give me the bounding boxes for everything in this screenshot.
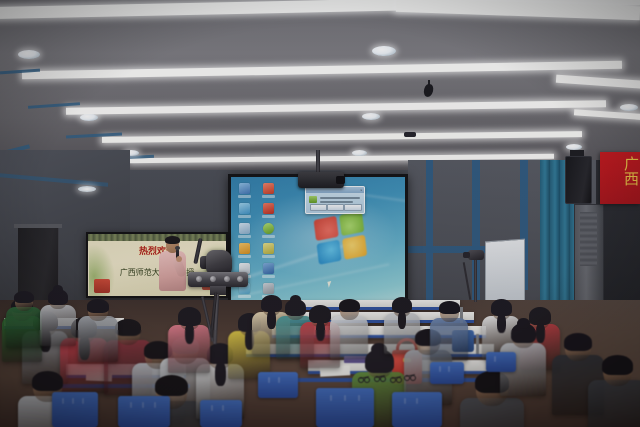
hair bbox=[602, 355, 633, 375]
chair[interactable] bbox=[52, 392, 98, 427]
downlight bbox=[78, 186, 96, 192]
dialog-message-line bbox=[320, 201, 353, 203]
attendee-far-right-man bbox=[588, 356, 640, 427]
pdf-reader-icon[interactable] bbox=[262, 203, 275, 218]
attendee-back-left-green bbox=[6, 292, 42, 352]
network-icon[interactable] bbox=[262, 263, 275, 278]
presenter-hair bbox=[165, 236, 180, 244]
tripod-leg bbox=[474, 260, 477, 302]
chair[interactable] bbox=[316, 388, 374, 427]
chair[interactable] bbox=[258, 372, 298, 398]
computer-icon[interactable] bbox=[238, 183, 251, 198]
system-dialog[interactable]: x bbox=[305, 186, 365, 214]
downlight bbox=[372, 46, 396, 56]
media-player-icon[interactable] bbox=[262, 183, 275, 198]
torso bbox=[6, 307, 42, 348]
torso bbox=[430, 318, 468, 362]
hair bbox=[339, 299, 360, 312]
light-strip bbox=[102, 131, 582, 143]
torso bbox=[78, 316, 118, 362]
desk-leg bbox=[476, 334, 479, 354]
text-editor-icon[interactable] bbox=[238, 223, 251, 238]
downlight bbox=[18, 50, 40, 59]
wall-stripe bbox=[426, 160, 433, 310]
hair bbox=[87, 299, 109, 313]
hair bbox=[115, 319, 141, 336]
mouse-pointer-icon bbox=[327, 280, 335, 288]
hair-bun bbox=[517, 318, 530, 330]
close-icon[interactable]: x bbox=[361, 188, 363, 192]
dialog-message-line bbox=[320, 197, 360, 199]
ponytail bbox=[215, 362, 226, 386]
hair bbox=[32, 371, 63, 391]
ponytail bbox=[267, 310, 276, 329]
ceiling-speaker bbox=[404, 132, 416, 137]
video-camera-body bbox=[206, 250, 232, 274]
torso bbox=[40, 305, 76, 346]
light-strip bbox=[556, 75, 640, 90]
attendee-row3-left bbox=[78, 300, 118, 367]
ponytail bbox=[185, 323, 194, 344]
hair bbox=[529, 307, 551, 325]
chair[interactable] bbox=[200, 400, 242, 427]
dialog-status-icon bbox=[309, 196, 317, 203]
chair[interactable] bbox=[486, 352, 516, 372]
dialog-button[interactable] bbox=[344, 204, 362, 211]
attendee-back-left-woman bbox=[40, 290, 76, 350]
hair bbox=[564, 333, 592, 351]
chair[interactable] bbox=[430, 362, 464, 384]
lecture-hall-photo: 广西 bbox=[0, 0, 640, 427]
camera-knob[interactable] bbox=[196, 276, 202, 282]
slide-decor-red bbox=[94, 279, 110, 293]
downlight bbox=[620, 104, 638, 111]
hair bbox=[14, 291, 34, 303]
attendee-mid-right-blue bbox=[430, 302, 468, 366]
banner-text: 广西 bbox=[604, 156, 638, 200]
light-strip bbox=[22, 61, 622, 79]
camera-knob[interactable] bbox=[210, 276, 216, 282]
hair bbox=[439, 301, 460, 314]
camera-knob[interactable] bbox=[224, 276, 230, 282]
air-conditioner-grill bbox=[580, 212, 597, 266]
wall-speaker bbox=[565, 156, 592, 204]
office-doc-icon[interactable] bbox=[238, 243, 251, 258]
hair bbox=[309, 305, 331, 323]
hair-bun bbox=[290, 295, 301, 305]
folder-icon[interactable] bbox=[238, 203, 251, 218]
microphone-head bbox=[175, 246, 180, 250]
archive-icon[interactable] bbox=[262, 243, 275, 258]
camcorder-lens bbox=[463, 252, 470, 258]
camera-knob[interactable] bbox=[237, 276, 243, 282]
projection-screen[interactable]: x bbox=[228, 174, 408, 306]
slide-top-border bbox=[88, 234, 226, 241]
flip-chart-whiteboard bbox=[485, 239, 525, 306]
ponytail bbox=[316, 321, 325, 341]
downlight bbox=[362, 113, 380, 120]
windows-desktop[interactable]: x bbox=[231, 177, 405, 303]
browser-icon[interactable] bbox=[262, 223, 275, 238]
light-strip bbox=[66, 100, 606, 115]
bicycle-graphic-print bbox=[358, 372, 416, 386]
presenter-hand bbox=[176, 256, 182, 262]
windows-flag-logo bbox=[314, 210, 371, 267]
torso bbox=[588, 380, 640, 427]
camera-control-panel bbox=[188, 272, 248, 287]
dialog-button[interactable] bbox=[327, 204, 344, 211]
attendee-mid-left-pink bbox=[168, 308, 210, 378]
projector-lens bbox=[336, 176, 345, 184]
chair[interactable] bbox=[118, 396, 170, 427]
downlight bbox=[352, 150, 367, 156]
dialog-button[interactable] bbox=[310, 204, 327, 211]
camcorder-on-tripod bbox=[468, 250, 484, 260]
downlight bbox=[80, 114, 98, 121]
chair[interactable] bbox=[392, 392, 442, 427]
